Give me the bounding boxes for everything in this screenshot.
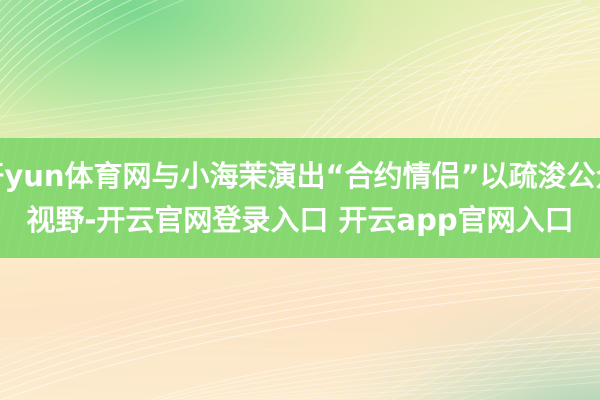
headline-band: 开yun体育网与小海茉演出“合约情侣”以疏浚公众 视野-开云官网登录入口 开云a… xyxy=(0,138,600,258)
banner-image: 开yun体育网与小海茉演出“合约情侣”以疏浚公众 视野-开云官网登录入口 开云a… xyxy=(0,0,600,400)
headline-line-1: 开yun体育网与小海茉演出“合约情侣”以疏浚公众 xyxy=(0,154,600,198)
headline-line-2: 视野-开云官网登录入口 开云app官网入口 xyxy=(26,198,573,242)
